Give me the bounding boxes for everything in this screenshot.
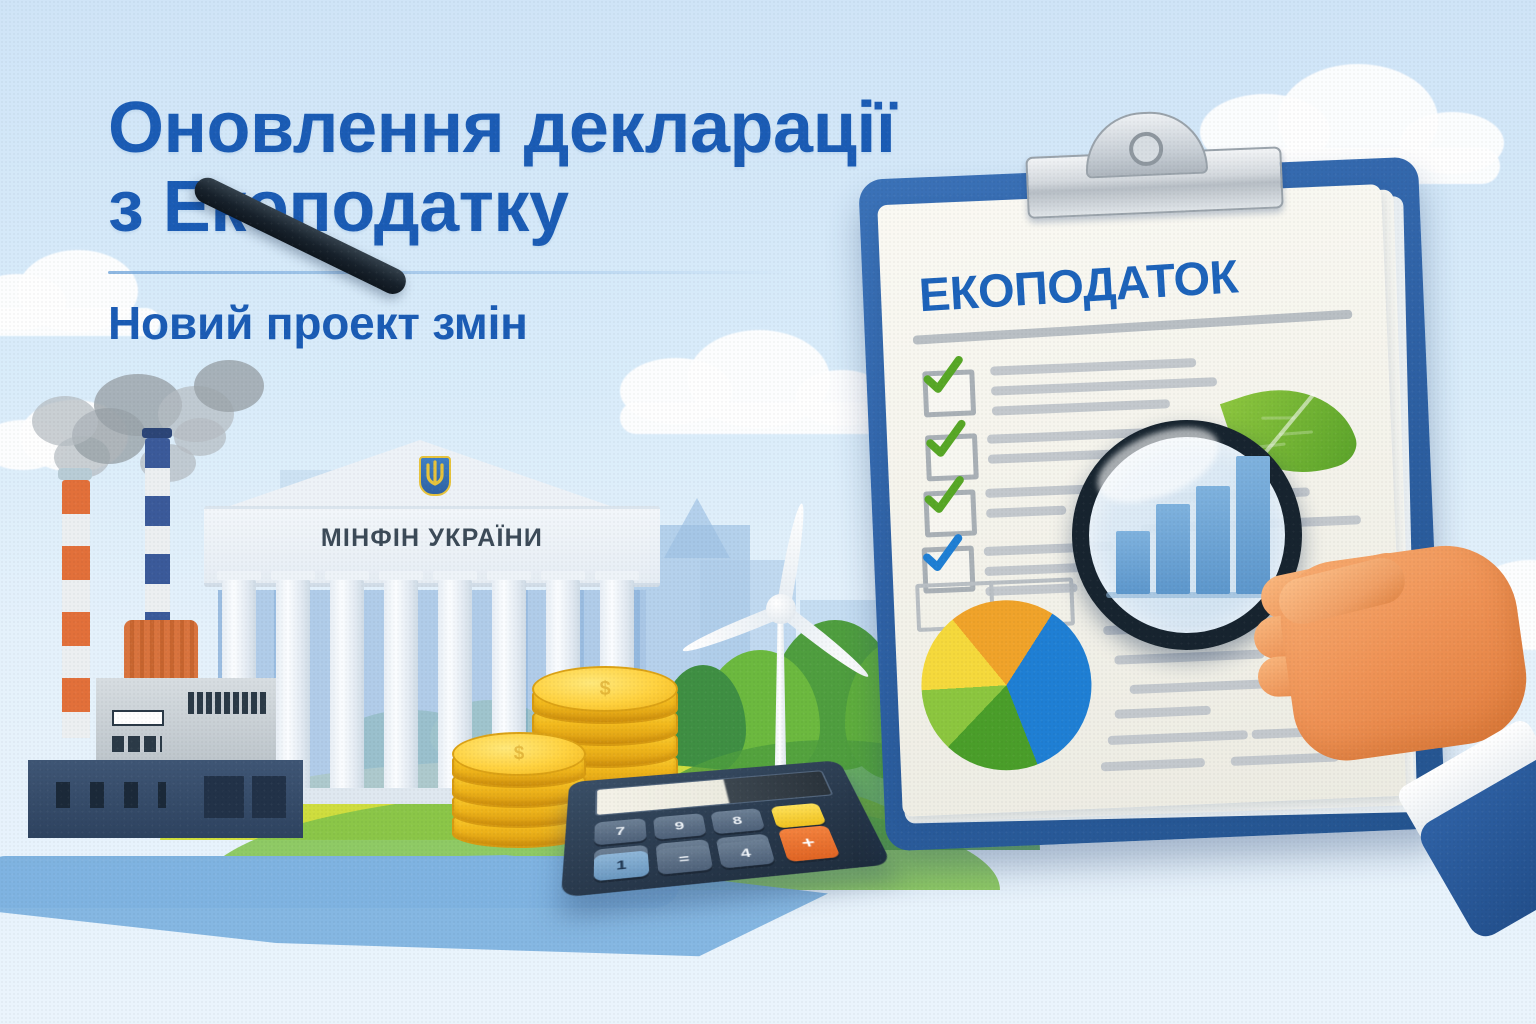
ukraine-trident-icon [419,456,451,496]
chimney-blue-body [145,438,170,628]
magnifier[interactable] [1072,420,1302,650]
pie-chart-slices [918,597,1095,774]
factory-base-windows [56,782,166,808]
smoke-puff [194,360,264,412]
doc-text-line [1108,730,1248,745]
factory-sign [112,710,164,726]
check-mark-icon [920,354,966,400]
factory-window-strip [188,692,266,714]
doc-text-line [1101,758,1205,771]
chimney-orange [58,468,92,480]
factory-cooling-drum [124,620,198,682]
coin-top-face [532,666,678,712]
zoom-bar-4 [1236,456,1270,594]
eco-tax-banner: МІНФІН УКРАЇНИ 7 9 8 [0,0,1536,1024]
title-divider [108,271,788,274]
smoke-puff [174,418,226,456]
check-mark-icon [922,418,968,464]
zoom-bar-3 [1196,486,1230,594]
smoke-puff [32,396,98,446]
doc-text-line [990,358,1196,376]
check-mark-icon [921,474,967,520]
doc-text-line [992,399,1170,415]
doc-text-line [986,506,1066,518]
hand-holding-magnifier [1272,528,1536,858]
coin-top-face [452,732,586,776]
zoom-bar-1 [1116,531,1150,594]
chimney-orange-body [62,480,90,738]
doc-text-line [1114,649,1264,664]
headline-block: Оновлення декларації з Екоподатку Новий … [108,92,898,350]
zoom-bar-2 [1156,504,1190,594]
check-mark-icon [919,532,965,578]
pie-chart [918,597,1095,774]
document-title: ЕКОПОДАТОК [917,242,1350,322]
factory-window-row [112,736,162,752]
factory [18,470,338,840]
factory-door [204,776,244,818]
doc-text-line [1115,706,1211,719]
headline-line-1: Оновлення декларації [108,92,898,165]
chimney-blue [142,428,172,438]
subtitle: Новий проект змін [108,296,898,350]
turbine-hub [766,594,796,624]
doc-text-line [991,377,1217,395]
column [384,580,418,790]
factory-door-2 [252,776,286,818]
